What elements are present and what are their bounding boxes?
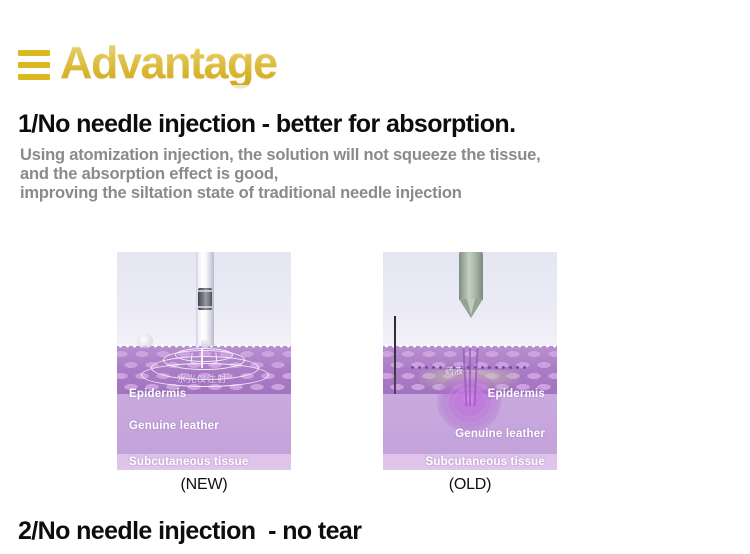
syringe-cone-highlight <box>467 299 475 315</box>
tear-streak <box>462 348 467 406</box>
paragraph-line-3: improving the siltation state of traditi… <box>20 184 540 203</box>
syringe-body <box>459 252 483 300</box>
atomizer-nozzle-icon <box>196 252 214 346</box>
figure-old: 药液 Epidermis Genuine leather Subcutaneou… <box>383 252 557 470</box>
skin-diagram-old: 药液 Epidermis Genuine leather Subcutaneou… <box>383 252 557 470</box>
hamburger-bar-3 <box>18 74 50 80</box>
syringe-icon <box>459 252 483 318</box>
section-1-heading: 1/No needle injection - better for absor… <box>18 110 515 139</box>
atomized-spray-spread: 水光仪注射 <box>139 348 269 390</box>
hamburger-bar-1 <box>18 50 50 56</box>
label-genuine-leather: Genuine leather <box>455 428 545 440</box>
needle-shaft <box>394 316 396 394</box>
page-header: Advantage <box>18 40 277 85</box>
mist-puff <box>137 334 153 348</box>
nozzle-tip <box>201 340 209 348</box>
spray-fan <box>190 353 217 366</box>
figure-new: 水光仪注射 Epidermis Genuine leather Subcutan… <box>117 252 291 470</box>
label-subcutaneous-tissue: Subcutaneous tissue <box>129 456 248 468</box>
hamburger-bar-2 <box>18 62 50 68</box>
label-epidermis: Epidermis <box>129 388 186 400</box>
tear-streak <box>469 348 471 406</box>
label-genuine-leather: Genuine leather <box>129 420 219 432</box>
figure-caption-old: (OLD) <box>383 476 557 494</box>
label-subcutaneous-tissue: Subcutaneous tissue <box>426 456 545 468</box>
tear-streak <box>473 348 478 406</box>
needle-tear-streaks <box>462 348 480 408</box>
paragraph-line-2: and the absorption effect is good, <box>20 165 540 184</box>
hamburger-icon[interactable] <box>18 46 50 80</box>
page-title: Advantage <box>60 40 277 85</box>
annotation-cn-new: 水光仪注射 <box>177 372 227 385</box>
label-epidermis: Epidermis <box>488 388 545 400</box>
nozzle-band <box>198 288 212 310</box>
figure-caption-new: (NEW) <box>117 476 291 494</box>
annotation-cn-old: 药液 <box>445 364 463 377</box>
section-2-heading: 2/No needle injection - no tear <box>18 517 361 546</box>
skin-diagram-new: 水光仪注射 Epidermis Genuine leather Subcutan… <box>117 252 291 470</box>
paragraph-line-1: Using atomization injection, the solutio… <box>20 146 540 165</box>
section-1-paragraph: Using atomization injection, the solutio… <box>20 146 540 203</box>
